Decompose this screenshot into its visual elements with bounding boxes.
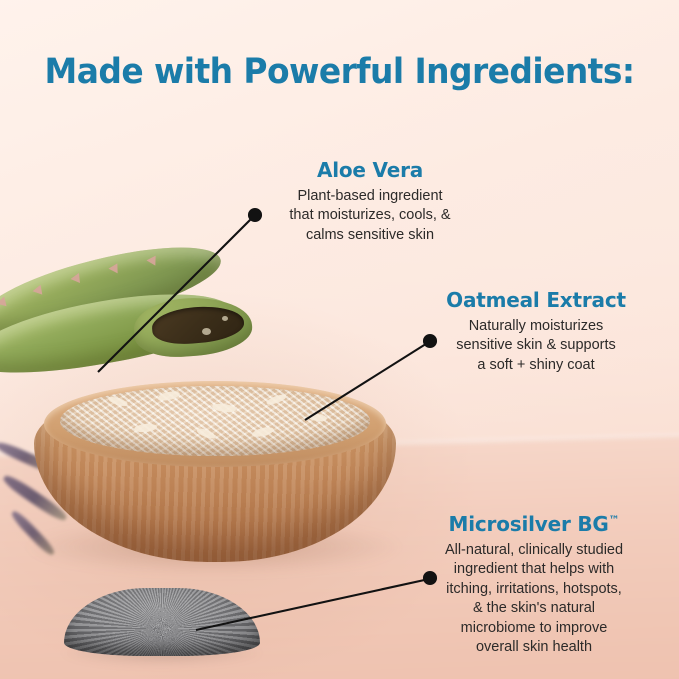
callout-title-microsilver-bg: Microsilver BG™ — [404, 512, 664, 536]
callout-aloe-vera: Aloe Vera Plant-based ingredient that mo… — [258, 158, 482, 245]
callout-title-aloe-vera: Aloe Vera — [258, 158, 482, 182]
aloe-thorn — [108, 263, 117, 273]
callout-oatmeal-extract: Oatmeal Extract Naturally moisturizes se… — [420, 288, 652, 375]
callout-body-aloe-vera: Plant-based ingredient that moisturizes,… — [258, 187, 482, 245]
aloe-cut-speck — [202, 328, 211, 335]
callout-body-oatmeal-extract: Naturally moisturizes sensitive skin & s… — [420, 317, 652, 375]
aloe-thorn — [146, 255, 155, 265]
oat-flakes — [60, 386, 370, 456]
aloe-cut-speck — [222, 316, 228, 321]
ingredients-infographic: Made with Powerful Ingredients: — [0, 0, 679, 679]
callout-body-microsilver-bg: All-natural, clinically studied ingredie… — [404, 541, 664, 658]
page-title: Made with Powerful Ingredients: — [20, 52, 658, 92]
callout-title-microsilver-bg-text: Microsilver BG — [449, 512, 609, 536]
aloe-thorn — [70, 273, 80, 284]
aloe-thorn — [32, 285, 43, 296]
callout-microsilver-bg: Microsilver BG™ All-natural, clinically … — [404, 512, 664, 658]
callout-title-oatmeal-extract: Oatmeal Extract — [420, 288, 652, 312]
trademark-symbol: ™ — [609, 513, 620, 526]
